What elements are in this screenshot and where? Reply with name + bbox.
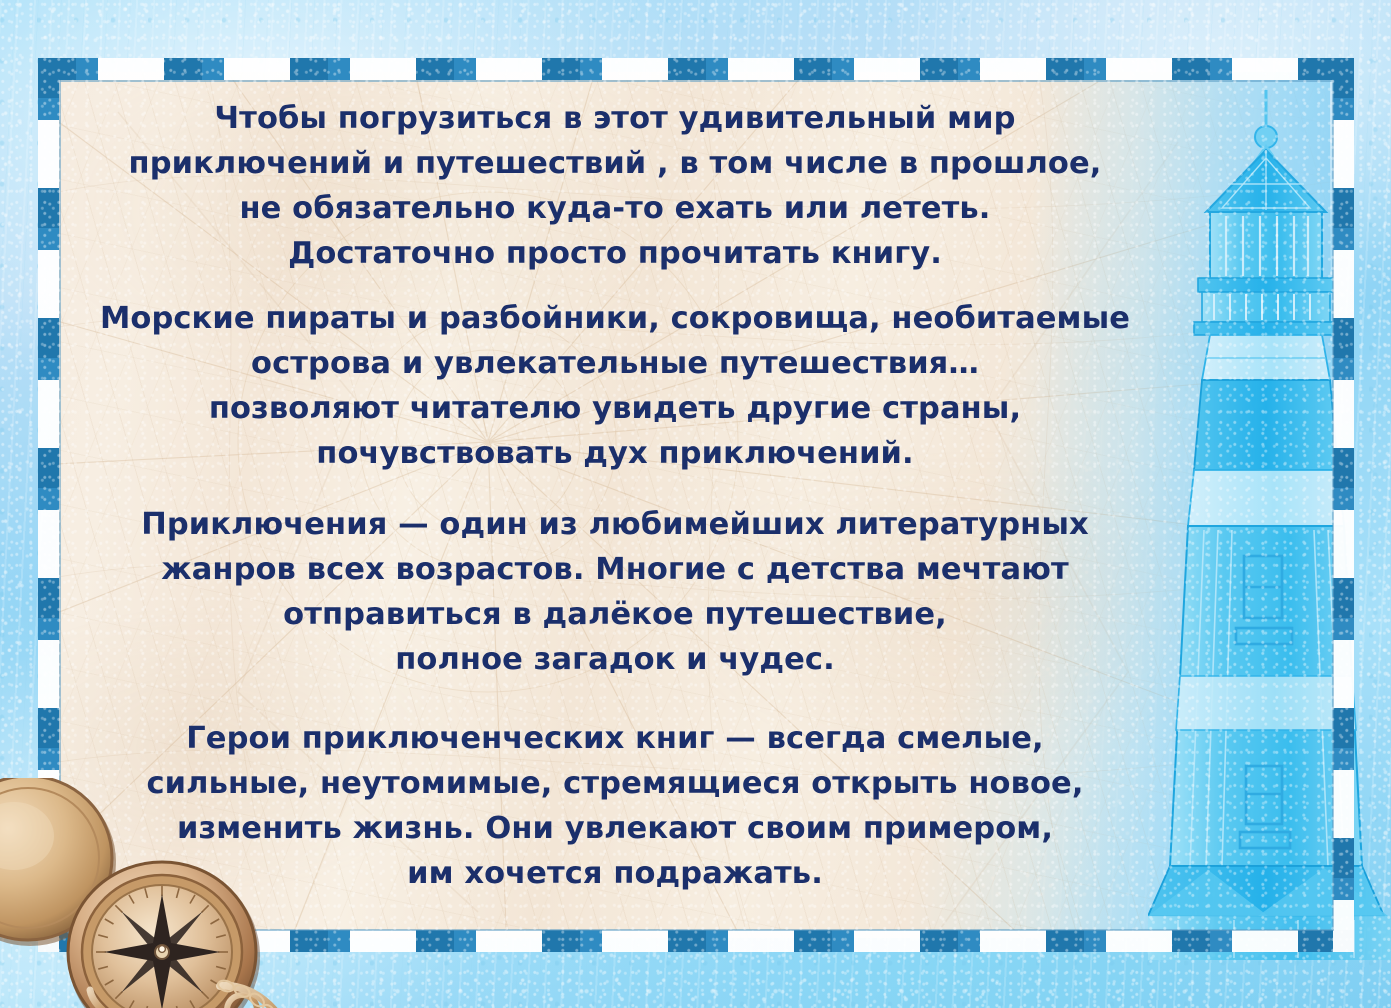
slide-canvas: Чтобы погрузиться в этот удивительный ми… [0, 0, 1391, 1008]
paragraph-2: Морские пираты и разбойники, сокровища, … [70, 292, 1160, 476]
lighthouse-icon [1148, 80, 1391, 960]
paragraph-2-line-3: позволяют читателю увидеть другие страны… [70, 386, 1160, 431]
paragraph-1-line-3: не обязательно куда-то ехать или лететь. [70, 186, 1160, 231]
paragraph-3: Приключения — один из любимейших литерат… [70, 496, 1160, 682]
paragraph-3-line-2: жанров всех возрастов. Многие с детства … [70, 547, 1160, 592]
frame-hairline-top [58, 80, 1334, 82]
paragraph-1: Чтобы погрузиться в этот удивительный ми… [70, 96, 1160, 276]
lighthouse-svg [1148, 80, 1391, 960]
paragraph-1-line-4: Достаточно просто прочитать книгу. [70, 231, 1160, 276]
paragraph-2-line-4: почувствовать дух приключений. [70, 431, 1160, 476]
paragraph-2-line-1: Морские пираты и разбойники, сокровища, … [70, 296, 1160, 341]
paragraph-2-line-2: острова и увлекательные путешествия… [70, 341, 1160, 386]
paragraph-3-line-4: полное загадок и чудес. [70, 637, 1160, 682]
paragraph-4: Герои приключенческих книг — всегда смел… [70, 704, 1160, 896]
paragraph-1-line-1: Чтобы погрузиться в этот удивительный ми… [70, 96, 1160, 141]
paragraph-1-line-2: приключений и путешествий , в том числе … [70, 141, 1160, 186]
frame-dash-right [1333, 58, 1354, 952]
paragraph-3-line-1: Приключения — один из любимейших литерат… [70, 502, 1160, 547]
frame-hairline-right [1332, 80, 1334, 930]
paragraph-4-line-1: Герои приключенческих книг — всегда смел… [70, 716, 1160, 761]
paragraph-4-line-3: изменить жизнь. Они увлекают своим приме… [70, 806, 1160, 851]
paragraph-3-line-3: отправиться в далёкое путешествие, [70, 592, 1160, 637]
paragraph-4-line-2: сильные, неутомимые, стремящиеся открыть… [70, 761, 1160, 806]
text-content: Чтобы погрузиться в этот удивительный ми… [70, 96, 1160, 906]
frame-dash-top [38, 58, 1354, 80]
paragraph-4-line-4: им хочется подражать. [70, 851, 1160, 896]
